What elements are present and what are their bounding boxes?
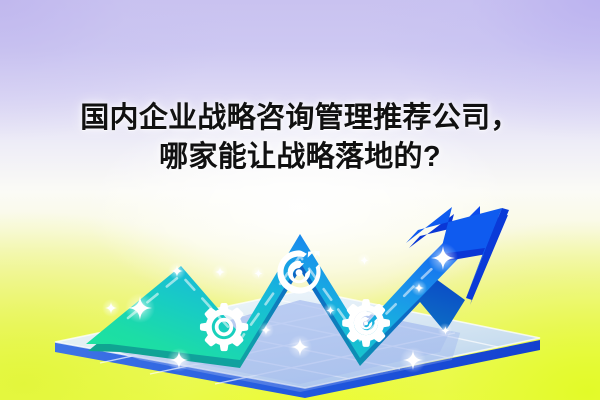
headline-block: 国内企业战略咨询管理推荐公司， 哪家能让战略落地的? bbox=[0, 99, 600, 177]
headline-line-2: 哪家能让战略落地的? bbox=[14, 138, 586, 177]
headline-line-1: 国内企业战略咨询管理推荐公司， bbox=[14, 99, 586, 138]
poster-canvas: 国内企业战略咨询管理推荐公司， 哪家能让战略落地的? bbox=[0, 0, 600, 400]
growth-arrow-illustration bbox=[0, 0, 600, 400]
